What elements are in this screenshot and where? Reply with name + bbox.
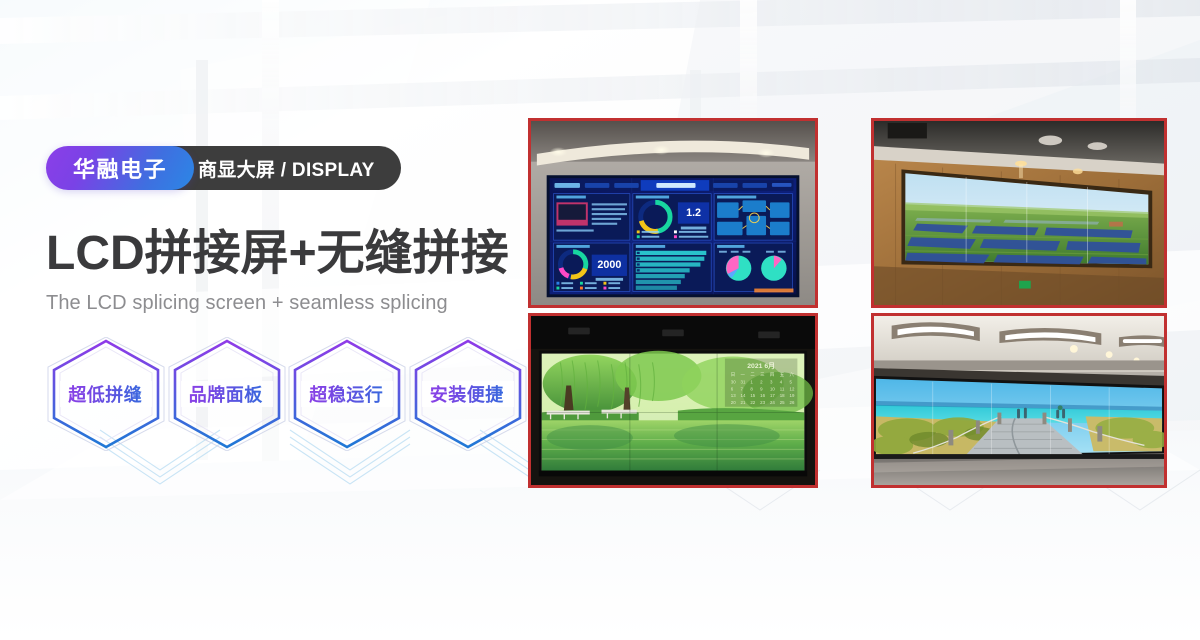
svg-text:11: 11 (780, 386, 785, 391)
svg-text:10: 10 (770, 386, 775, 391)
svg-text:18: 18 (780, 393, 785, 398)
svg-text:26: 26 (790, 400, 795, 405)
solar-wall-scene (874, 121, 1164, 305)
svg-text:19: 19 (790, 393, 795, 398)
svg-text:23: 23 (760, 400, 765, 405)
svg-text:22: 22 (750, 400, 755, 405)
badge-brand-label: 华融电子 (46, 146, 194, 190)
product-photo-solar-wall (871, 118, 1167, 308)
svg-text:1.2: 1.2 (686, 207, 701, 219)
svg-text:21: 21 (741, 400, 746, 405)
hero-text-column: 商显大屏 / DISPLAY 华融电子 LCD拼接屏+无缝拼接 The LCD … (46, 146, 526, 451)
svg-text:17: 17 (770, 393, 775, 398)
svg-text:一: 一 (741, 372, 746, 377)
svg-text:2000: 2000 (597, 259, 621, 271)
feature-badge-2: 品牌面板 (167, 337, 286, 451)
svg-text:2021 6月: 2021 6月 (747, 362, 775, 370)
svg-text:24: 24 (770, 400, 775, 405)
svg-text:20: 20 (731, 400, 736, 405)
feature-label: 品牌面板 (167, 381, 286, 407)
svg-text:16: 16 (760, 393, 765, 398)
svg-text:四: 四 (770, 372, 774, 377)
feature-label: 安装便捷 (408, 381, 527, 407)
svg-text:六: 六 (790, 371, 795, 378)
beach-wall-scene (874, 316, 1164, 485)
svg-text:31: 31 (741, 380, 746, 385)
feature-label: 超低拼缝 (46, 381, 165, 407)
svg-text:14: 14 (741, 393, 746, 398)
product-photo-beach-wall (871, 313, 1167, 488)
product-photo-dashboard: 1.2 (528, 118, 818, 308)
feature-label: 超稳运行 (287, 381, 406, 407)
svg-text:五: 五 (780, 372, 785, 377)
feature-badge-4: 安装便捷 (408, 337, 527, 451)
svg-text:二: 二 (750, 372, 755, 377)
svg-text:三: 三 (760, 372, 765, 377)
svg-text:25: 25 (780, 400, 785, 405)
svg-text:15: 15 (750, 393, 755, 398)
feature-badge-3: 超稳运行 (287, 337, 406, 451)
svg-text:30: 30 (731, 380, 736, 385)
garden-wall-scene: 2021 6月 日一二 三四五六 303112 345 6789 101112 … (531, 316, 815, 485)
promo-banner: 商显大屏 / DISPLAY 华融电子 LCD拼接屏+无缝拼接 The LCD … (0, 0, 1200, 640)
svg-text:13: 13 (731, 393, 736, 398)
svg-text:12: 12 (790, 386, 795, 391)
product-photo-garden-wall: 2021 6月 日一二 三四五六 303112 345 6789 101112 … (528, 313, 818, 488)
feature-badge-row: 超低拼缝 品牌面板 (46, 337, 526, 451)
feature-badge-1: 超低拼缝 (46, 337, 165, 451)
page-subtitle: The LCD splicing screen + seamless splic… (46, 292, 526, 315)
page-title: LCD拼接屏+无缝拼接 (46, 229, 526, 280)
dashboard-scene: 1.2 (531, 121, 815, 305)
